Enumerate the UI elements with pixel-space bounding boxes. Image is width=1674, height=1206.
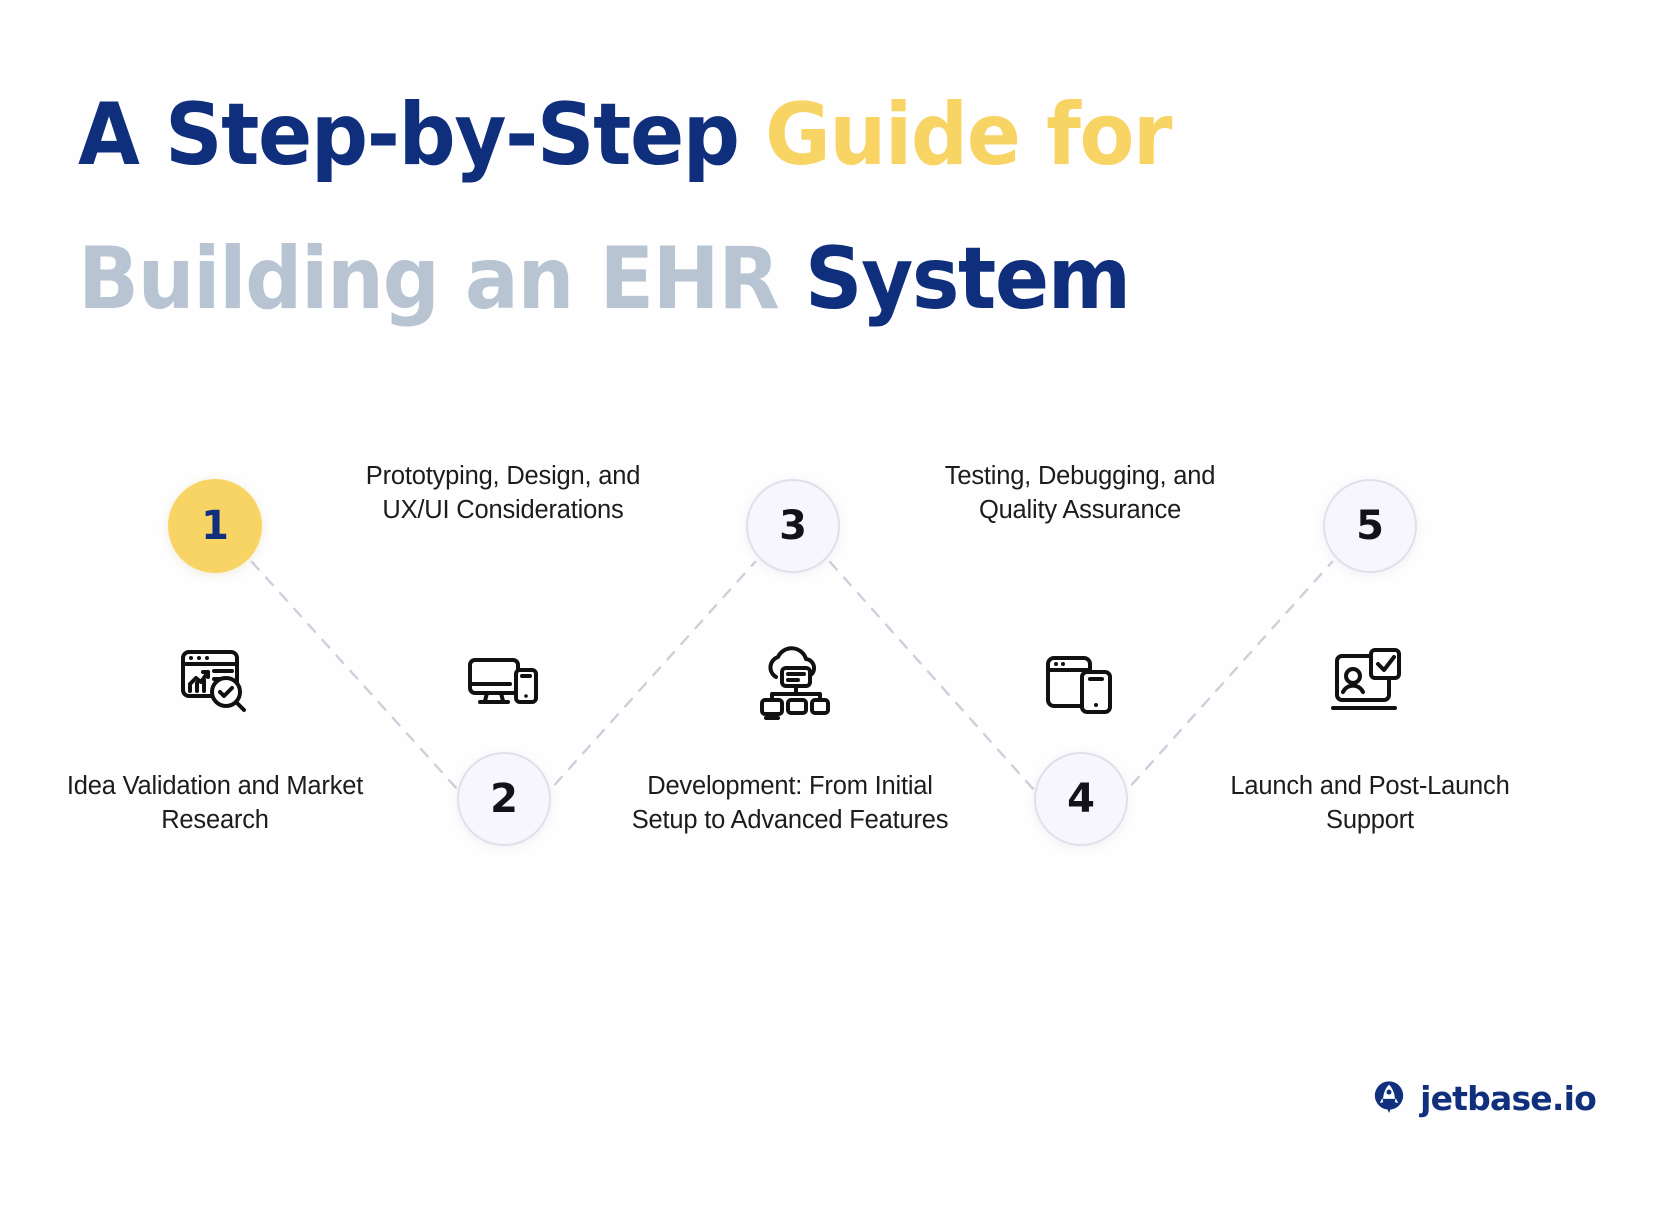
step-4-caption: Testing, Debugging, and Quality Assuranc… (920, 460, 1240, 527)
market-research-icon (172, 640, 256, 724)
step-5-badge[interactable]: 5 (1323, 479, 1417, 573)
step-4-badge[interactable]: 4 (1034, 752, 1128, 846)
step-3-caption: Development: From Initial Setup to Advan… (630, 770, 950, 837)
step-1-caption: Idea Validation and Market Research (55, 770, 375, 837)
page-title: A Step-by-Step Guide for Building an EHR… (78, 92, 1478, 323)
title-line-1-gold: Guide for (765, 85, 1171, 185)
logo-text: jetbase.io (1420, 1079, 1596, 1118)
step-3-badge[interactable]: 3 (746, 479, 840, 573)
step-4-number: 4 (1067, 776, 1095, 822)
connector-2-3 (541, 562, 755, 800)
step-5-caption: Launch and Post-Launch Support (1210, 770, 1530, 837)
responsive-devices-icon (461, 640, 545, 724)
step-1-number: 1 (201, 503, 229, 549)
connector-3-4 (830, 562, 1043, 800)
step-1-badge[interactable]: 1 (168, 479, 262, 573)
jetbase-logo[interactable]: jetbase.io (1369, 1078, 1596, 1118)
step-5-number: 5 (1356, 503, 1384, 549)
cloud-network-icon (750, 640, 834, 724)
connector-4-5 (1118, 562, 1332, 800)
connector-1-2 (252, 562, 467, 800)
steps-timeline: 1 Idea Validation and Market Res (0, 440, 1674, 940)
step-3-number: 3 (779, 503, 807, 549)
step-2-number: 2 (490, 776, 518, 822)
title-line-2-grey: Building an EHR (78, 229, 805, 329)
rocket-logo-icon (1369, 1078, 1409, 1118)
step-2-caption: Prototyping, Design, and UX/UI Considera… (343, 460, 663, 527)
launch-support-icon (1327, 640, 1411, 724)
cross-device-testing-icon (1038, 640, 1122, 724)
title-line-2: Building an EHR System (78, 236, 1380, 324)
title-line-2-navy: System (805, 229, 1130, 329)
title-line-1: A Step-by-Step Guide for (78, 92, 1380, 180)
infographic-canvas: A Step-by-Step Guide for Building an EHR… (0, 0, 1674, 1206)
title-line-1-navy: A Step-by-Step (78, 85, 765, 185)
step-2-badge[interactable]: 2 (457, 752, 551, 846)
